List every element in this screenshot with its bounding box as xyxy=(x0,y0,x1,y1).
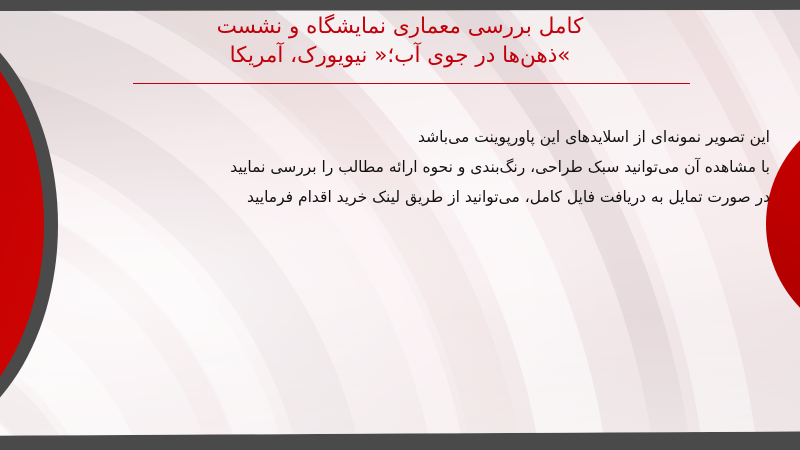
body-line-2: با مشاهده آن می‌توانید سبک طراحی، رنگ‌بن… xyxy=(120,152,770,182)
slide-body-text: این تصویر نمونه‌ای از اسلایدهای این پاور… xyxy=(120,122,770,212)
body-line-1: این تصویر نمونه‌ای از اسلایدهای این پاور… xyxy=(120,122,770,152)
title-underline-rule xyxy=(133,83,690,84)
slide-title-line-1: کامل بررسی معماری نمایشگاه و نشست xyxy=(110,12,690,41)
presentation-slide: کامل بررسی معماری نمایشگاه و نشست »ذهن‌ه… xyxy=(0,0,800,450)
slide-title: کامل بررسی معماری نمایشگاه و نشست »ذهن‌ه… xyxy=(110,12,690,70)
slide-title-line-2: »ذهن‌ها در جوی آب؛« نیویورک، آمریکا xyxy=(110,41,690,70)
body-line-3: در صورت تمایل به دریافت فایل کامل، می‌تو… xyxy=(120,182,770,212)
